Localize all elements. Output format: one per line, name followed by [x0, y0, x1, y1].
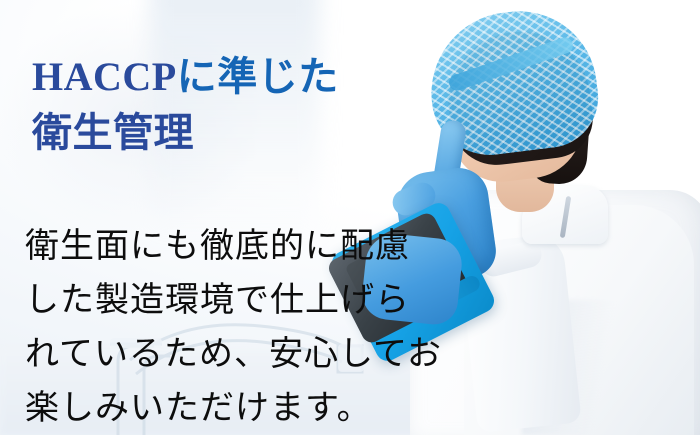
body-copy: 衛生面にも徹底的に配慮 した製造環境で仕上げら れているため、安心してお 楽しみ…: [25, 220, 445, 435]
body-line-1: 衛生面にも徹底的に配慮: [25, 220, 445, 274]
headline-line2: 衛生管理: [32, 105, 452, 161]
headline: HACCPに準じた 衛生管理: [32, 49, 452, 161]
haccp-hygiene-banner: HACCPに準じた 衛生管理 衛生面にも徹底的に配慮 した製造環境で仕上げら れ…: [0, 0, 700, 435]
body-line-2: した製造環境で仕上げら: [25, 274, 445, 328]
headline-latin: HACCP: [32, 54, 177, 99]
headline-accent: に準じた: [177, 54, 339, 99]
body-line-3: れているため、安心してお: [25, 328, 445, 382]
body-line-4: 楽しみいただけます。: [25, 382, 445, 435]
